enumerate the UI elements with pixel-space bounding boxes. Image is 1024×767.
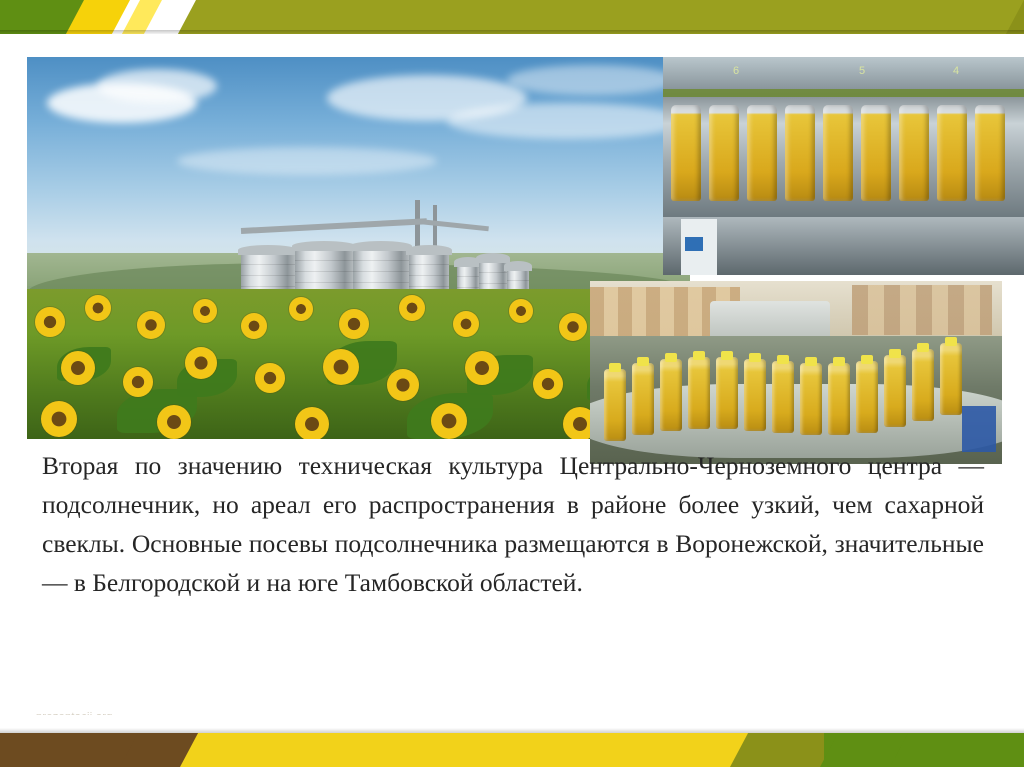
bottle-cap	[777, 355, 789, 364]
sunflower-head	[453, 311, 479, 337]
cloud-shape	[177, 147, 437, 175]
oil-bottle	[604, 369, 626, 441]
top-band-olive-skew	[178, 0, 1024, 34]
machine-station-number: 5	[859, 65, 865, 77]
bottom-decorative-band	[0, 715, 1024, 767]
cloud-shape	[97, 69, 217, 103]
sunflower-head	[431, 403, 467, 439]
oil-bottle	[772, 361, 794, 433]
bottle-cap	[665, 353, 677, 362]
oil-bottle	[632, 363, 654, 435]
slide: 6 5 4	[0, 0, 1024, 767]
sunflower-head	[533, 369, 563, 399]
oil-bottle	[884, 355, 906, 427]
machine-station-number: 6	[733, 65, 739, 77]
sunflower-head	[399, 295, 425, 321]
bottle-cap	[609, 363, 621, 372]
sunflower-head	[193, 299, 217, 323]
oil-bottle	[660, 359, 682, 431]
sunflower-head	[35, 307, 65, 337]
oil-bottle	[688, 357, 710, 429]
bottom-band-yellow-skew	[640, 733, 748, 767]
control-panel-screen	[685, 237, 703, 251]
stacked-cartons	[852, 285, 992, 335]
bottle-cap	[917, 343, 929, 352]
bottle-cap	[693, 351, 705, 360]
sunflower-head	[255, 363, 285, 393]
sunflower-head	[157, 405, 191, 439]
top-band-shadow	[0, 30, 1024, 34]
top-decorative-band	[0, 0, 1024, 34]
oil-bottle	[785, 105, 815, 201]
sunflower-head	[185, 347, 217, 379]
oil-bottle	[940, 343, 962, 415]
sunflower-head	[241, 313, 267, 339]
sunflower-head	[137, 311, 165, 339]
cloud-shape	[447, 103, 687, 139]
sunflower-head	[85, 295, 111, 321]
machine-base	[663, 217, 1024, 275]
oil-bottle	[800, 363, 822, 435]
oil-bottle-conveyor-photo	[590, 281, 1002, 464]
bottom-band-shadow	[0, 728, 1024, 733]
oil-bottling-carousel-photo: 6 5 4	[663, 57, 1024, 275]
bottle-cap	[637, 357, 649, 366]
sunflower-head	[465, 351, 499, 385]
sunflower-head	[559, 313, 587, 341]
oil-bottle	[671, 105, 701, 201]
bottle-cap	[721, 351, 733, 360]
cloud-shape	[507, 65, 677, 95]
sunflower-head	[323, 349, 359, 385]
bottle-cap	[749, 353, 761, 362]
oil-bottle	[899, 105, 929, 201]
machine-station-number: 4	[953, 65, 959, 77]
sunflower-head	[289, 297, 313, 321]
oil-bottle	[823, 105, 853, 201]
slide-body-text: Вторая по значению техническая культура …	[42, 446, 984, 602]
oil-bottle	[716, 357, 738, 429]
bottle-cap	[833, 357, 845, 366]
oil-bottle	[861, 105, 891, 201]
sunflower-head	[61, 351, 95, 385]
oil-bottle	[975, 105, 1005, 201]
top-band-yellow-stripe-light	[122, 0, 162, 34]
oil-bottle	[709, 105, 739, 201]
bottle-cap	[805, 357, 817, 366]
oil-bottle	[856, 361, 878, 433]
oil-bottle	[744, 359, 766, 431]
sunflower-head	[295, 407, 329, 439]
sunflower-head	[339, 309, 369, 339]
oil-bottle	[937, 105, 967, 201]
oil-bottle	[747, 105, 777, 201]
sunflower-head	[509, 299, 533, 323]
oil-bottle	[912, 349, 934, 421]
sunflower-head	[387, 369, 419, 401]
bottle-cap	[861, 355, 873, 364]
sunflower-head	[123, 367, 153, 397]
bottle-cap	[945, 337, 957, 346]
sunflower-head	[41, 401, 77, 437]
bottle-cap	[889, 349, 901, 358]
oil-bottle	[828, 363, 850, 435]
body-paragraph: Вторая по значению техническая культура …	[42, 446, 984, 602]
